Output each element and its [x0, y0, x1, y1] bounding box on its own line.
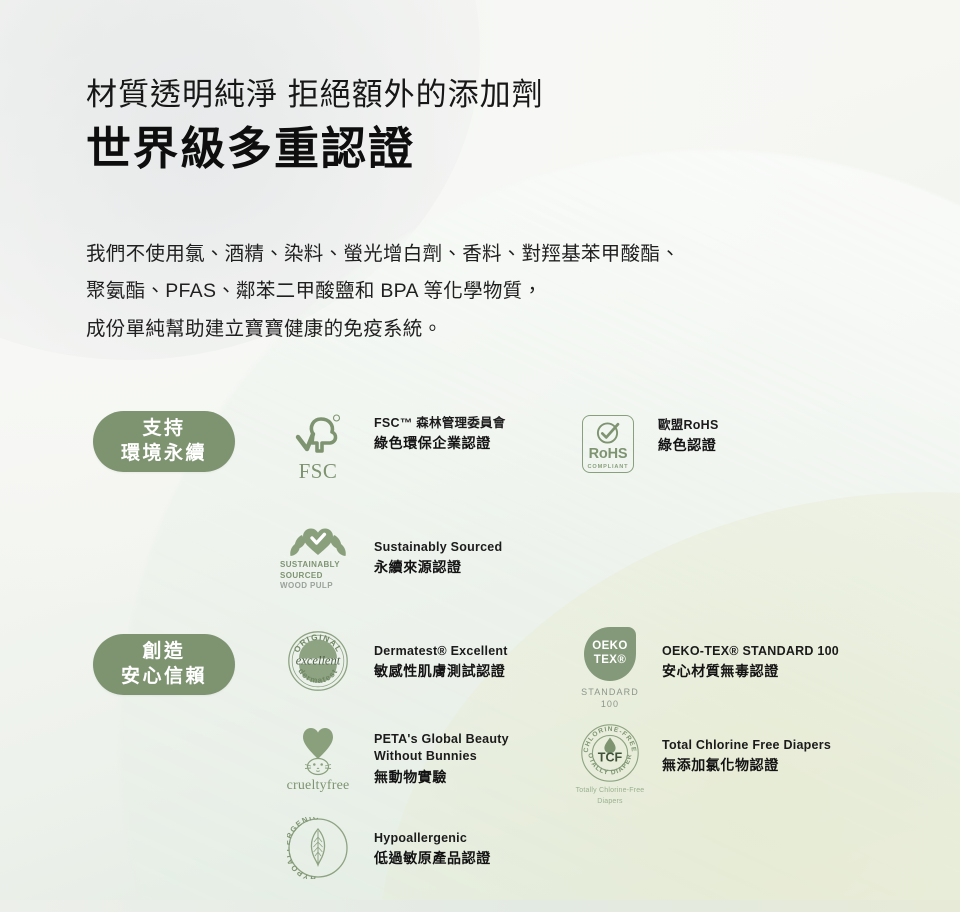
intro-line-3: 成份單純幫助建立寶寶健康的免疫系統。 [86, 311, 846, 348]
tcf-seal: CHLORINE-FREE TOTALLY DIAPERS TCF Totall… [568, 723, 652, 807]
cruelty-free-logo: crueltyfree [276, 725, 360, 794]
feather-seal-icon: HYPOALLERGENIC [287, 817, 349, 879]
cert-row-hypoallergenic: HYPOALLERGENIC Hypoallergenic 低過敏原產品認證 [276, 817, 491, 879]
cruelty-free-label-zh: 無動物實驗 [374, 767, 509, 788]
hypoallergenic-logo-cell: HYPOALLERGENIC [276, 817, 360, 879]
cruelty-free-label-en-1: PETA's Global Beauty [374, 731, 509, 748]
rohs-text-cell: 歐盟RoHS 綠色認證 [658, 415, 719, 456]
tcf-logo-cell: CHLORINE-FREE TOTALLY DIAPERS TCF Totall… [572, 723, 648, 807]
fsc-label-zh: 綠色環保企業認證 [374, 433, 505, 454]
tcf-sub-1: Totally Chlorine-Free [576, 786, 645, 797]
cert-row-rohs: RoHS COMPLIANT 歐盟RoHS 綠色認證 [572, 415, 719, 473]
cert-row-sustainably-sourced: SUSTAINABLY SOURCED WOOD PULP Sustainabl… [276, 525, 502, 592]
page-subtitle: 材質透明純淨 拒絕額外的添加劑 [86, 76, 886, 114]
rohs-logo: RoHS COMPLIANT [582, 415, 634, 473]
rohs-label-en: 歐盟RoHS [658, 417, 719, 434]
fsc-text-cell: FSC™ 森林管理委員會 綠色環保企業認證 [374, 413, 505, 454]
fsc-tree-check-icon [292, 413, 344, 461]
sustainably-sourced-logo: SUSTAINABLY SOURCED WOOD PULP [276, 525, 360, 592]
rohs-logo-word: RoHS [589, 447, 628, 462]
group-pill-environment: 支持 環境永續 [93, 411, 235, 472]
cruelty-free-label-en-2: Without Bunnies [374, 748, 509, 765]
tcf-label-en: Total Chlorine Free Diapers [662, 737, 831, 754]
sustainably-sourced-text-cell: Sustainably Sourced 永續來源認證 [374, 525, 502, 578]
sustainably-sourced-label-zh: 永續來源認證 [374, 557, 502, 578]
fsc-logo-word: FSC [299, 459, 338, 484]
oeko-tex-logo-cell: OEKO TEX® STANDARD 100 [572, 627, 648, 710]
page-heading-block: 材質透明純淨 拒絕額外的添加劑 世界級多重認證 [86, 76, 886, 175]
bunny-heart-ears-icon [290, 725, 346, 777]
dermatest-seal: ORIGINAL dermatest excellent [287, 630, 349, 692]
group-pill-trust: 創造 安心信賴 [93, 634, 235, 695]
pill-line-2: 安心信賴 [121, 665, 207, 689]
sustainably-sourced-cap-3: WOOD PULP [280, 581, 356, 592]
tcf-sub-2: Diapers [576, 797, 645, 808]
fsc-label-en: FSC™ 森林管理委員會 [374, 415, 505, 432]
fsc-logo-cell: FSC [276, 413, 360, 484]
rohs-label-zh: 綠色認證 [658, 435, 719, 456]
intro-line-2: 聚氨酯、PFAS、鄰苯二甲酸鹽和 BPA 等化學物質， [86, 273, 846, 310]
sustainably-sourced-cap-1: SUSTAINABLY [280, 560, 356, 571]
pill-line-1: 創造 [142, 640, 185, 664]
cruelty-free-text-cell: PETA's Global Beauty Without Bunnies 無動物… [374, 725, 509, 788]
cruelty-free-logo-cell: crueltyfree [276, 725, 360, 794]
sustainably-sourced-logo-cell: SUSTAINABLY SOURCED WOOD PULP [276, 525, 360, 592]
dermatest-label-en: Dermatest® Excellent [374, 643, 508, 660]
intro-line-1: 我們不使用氯、酒精、染料、螢光增白劑、香料、對羥基苯甲酸酯、 [86, 236, 846, 273]
svg-text:HYPOALLERGENIC: HYPOALLERGENIC [287, 817, 320, 879]
fsc-logo: FSC [286, 413, 350, 484]
intro-paragraph: 我們不使用氯、酒精、染料、螢光增白劑、香料、對羥基苯甲酸酯、 聚氨酯、PFAS、… [86, 236, 846, 348]
cert-row-fsc: FSC FSC™ 森林管理委員會 綠色環保企業認證 [276, 413, 505, 484]
heart-leaves-icon [289, 525, 347, 557]
sustainably-sourced-label-en: Sustainably Sourced [374, 539, 502, 556]
hypoallergenic-seal: HYPOALLERGENIC [287, 817, 349, 879]
cert-row-tcf: CHLORINE-FREE TOTALLY DIAPERS TCF Totall… [572, 723, 831, 807]
oeko-tex-word-2: TEX® [594, 654, 626, 668]
tcf-label-zh: 無添加氯化物認證 [662, 755, 831, 776]
oeko-tex-blob: OEKO TEX® [584, 627, 636, 681]
dermatest-label-zh: 敏感性肌膚測試認證 [374, 661, 508, 682]
tcf-text-cell: Total Chlorine Free Diapers 無添加氯化物認證 [662, 723, 831, 776]
check-circle-icon [595, 420, 622, 445]
dermatest-logo-cell: ORIGINAL dermatest excellent [276, 630, 360, 692]
cert-row-dermatest: ORIGINAL dermatest excellent Dermatest® … [276, 630, 508, 692]
cert-row-oeko-tex: OEKO TEX® STANDARD 100 OEKO-TEX® STANDAR… [572, 627, 839, 710]
oeko-tex-word-1: OEKO [592, 640, 627, 654]
hypoallergenic-label-zh: 低過敏原產品認證 [374, 848, 491, 869]
tcf-sub: Totally Chlorine-Free Diapers [576, 786, 645, 807]
oeko-tex-text-cell: OEKO-TEX® STANDARD 100 安心材質無毒認證 [662, 627, 839, 682]
rohs-logo-sub: COMPLIANT [588, 464, 629, 470]
dermatest-text-cell: Dermatest® Excellent 敏感性肌膚測試認證 [374, 630, 508, 682]
certification-page: 材質透明純淨 拒絕額外的添加劑 世界級多重認證 我們不使用氯、酒精、染料、螢光增… [0, 0, 960, 912]
hypoallergenic-label-en: Hypoallergenic [374, 830, 491, 847]
hypoallergenic-text-cell: Hypoallergenic 低過敏原產品認證 [374, 817, 491, 869]
oeko-tex-sub-2: 100 [581, 698, 639, 710]
tcf-seal-icon: CHLORINE-FREE TOTALLY DIAPERS TCF [580, 723, 640, 783]
pill-line-1: 支持 [142, 417, 185, 441]
oeko-tex-label-en: OEKO-TEX® STANDARD 100 [662, 643, 839, 660]
rohs-logo-cell: RoHS COMPLIANT [572, 415, 644, 473]
oeko-tex-sub-1: STANDARD [581, 686, 639, 698]
svg-text:excellent: excellent [296, 654, 341, 668]
dermatest-seal-icon: ORIGINAL dermatest excellent [287, 630, 349, 692]
oeko-tex-label-zh: 安心材質無毒認證 [662, 661, 839, 682]
pill-line-2: 環境永續 [121, 442, 207, 466]
svg-text:TCF: TCF [598, 751, 623, 765]
cruelty-free-logo-word: crueltyfree [287, 778, 350, 794]
oeko-tex-logo: OEKO TEX® STANDARD 100 [568, 627, 652, 710]
sustainably-sourced-cap-2: SOURCED [280, 571, 356, 582]
oeko-tex-sub: STANDARD 100 [581, 686, 639, 710]
page-title: 世界級多重認證 [86, 122, 886, 175]
cert-row-cruelty-free: crueltyfree PETA's Global Beauty Without… [276, 725, 509, 794]
